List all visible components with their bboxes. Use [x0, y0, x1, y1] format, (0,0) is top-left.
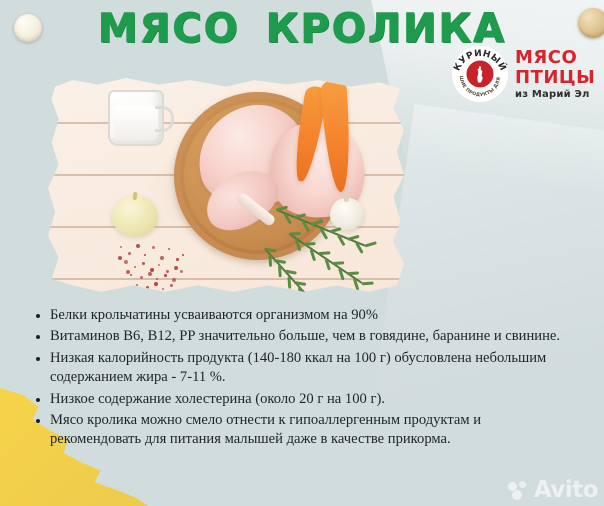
- rosemary-leaf: [362, 281, 374, 285]
- benefit-item: Мясо кролика можно смело отнести к гипоа…: [34, 411, 570, 450]
- benefit-item: Низкое содержание холестерина (около 20 …: [34, 390, 570, 409]
- rosemary-leaf: [304, 292, 316, 297]
- poster-canvas: МЯСО КРОЛИКА КУРИНЫЙ ЛУЧШИЕ ПРОДУКТЫ ДЛЯ…: [0, 0, 604, 506]
- peppercorn: [160, 256, 164, 260]
- peppercorn: [156, 278, 158, 280]
- logo-wordmark: МЯСО ПТИЦЫ из Марий Эл: [515, 49, 595, 100]
- rosemary-leaf: [318, 252, 330, 256]
- logo-badge-icon: КУРИНЫЙ ЛУЧШИЕ ПРОДУКТЫ ДЛЯ ВАС: [452, 46, 508, 102]
- logo-line-poultry: ПТИЦЫ: [515, 69, 595, 87]
- peppercorn: [136, 284, 138, 286]
- svg-text:ЛУЧШИЕ ПРОДУКТЫ ДЛЯ ВАС: ЛУЧШИЕ ПРОДУКТЫ ДЛЯ ВАС: [452, 46, 502, 98]
- rosemary-leaf: [268, 254, 272, 266]
- milk-jug-illustration: [108, 90, 164, 146]
- milk-fill: [114, 106, 158, 140]
- peppercorn: [158, 264, 160, 266]
- peppercorn: [164, 274, 167, 277]
- benefit-item: Низкая калорийность продукта (140-180 кк…: [34, 349, 570, 388]
- logo-line-meat: МЯСО: [515, 49, 595, 67]
- peppercorn: [182, 254, 184, 256]
- peppercorn: [162, 288, 164, 290]
- peppercorn: [134, 266, 136, 268]
- logo-badge-bottom-text-arc: ЛУЧШИЕ ПРОДУКТЫ ДЛЯ ВАС: [452, 46, 508, 102]
- peppercorn: [154, 282, 158, 286]
- peppercorn: [176, 258, 179, 261]
- peppercorn: [124, 260, 128, 264]
- rosemary-leaf: [347, 234, 359, 240]
- page-title-word-1: МЯСО: [98, 6, 240, 52]
- rosemary-leaf: [298, 287, 302, 299]
- peppercorn: [180, 270, 183, 273]
- peppercorn: [136, 244, 140, 248]
- brand-logo: КУРИНЫЙ ЛУЧШИЕ ПРОДУКТЫ ДЛЯ ВАС МЯСО ПТИ…: [452, 46, 595, 102]
- peppercorn: [120, 246, 122, 248]
- peppercorn: [148, 272, 152, 276]
- rosemary-leaf: [289, 232, 301, 236]
- peppercorn: [142, 262, 145, 265]
- peppercorn: [166, 270, 169, 273]
- avito-watermark-text: Avito: [534, 479, 598, 502]
- peppercorn: [118, 256, 122, 260]
- peppercorn: [172, 278, 176, 282]
- hero-photo: [48, 78, 404, 294]
- avito-dots-icon: [508, 481, 532, 501]
- benefit-item: Витаминов B6, B12, PP значительно больше…: [34, 327, 570, 346]
- rosemary-leaf: [347, 271, 359, 275]
- peppercorn: [168, 248, 170, 250]
- rosemary-leaf: [333, 261, 345, 265]
- rosemary-leaf: [303, 242, 315, 246]
- logo-tagline-region: из Марий Эл: [515, 90, 595, 100]
- avito-watermark: Avito: [508, 479, 598, 502]
- peppercorn: [128, 252, 131, 255]
- peppercorn: [174, 266, 178, 270]
- peppercorn: [144, 254, 146, 256]
- benefits-list-items: Белки крольчатины усваиваются организмом…: [34, 306, 570, 450]
- benefits-list: Белки крольчатины усваиваются организмом…: [34, 306, 570, 452]
- rosemary-sprig: [261, 196, 391, 290]
- hero-photo-torn-paper: [48, 78, 404, 294]
- onion-illustration: [112, 196, 158, 236]
- rosemary-leaf: [365, 241, 377, 247]
- peppercorn: [130, 274, 132, 276]
- benefit-item: Белки крольчатины усваиваются организмом…: [34, 306, 570, 325]
- peppercorn: [146, 286, 149, 289]
- peppercorn: [140, 276, 143, 279]
- peppercorn: [152, 246, 155, 249]
- peppercorn: [170, 284, 173, 287]
- title-spacer: [240, 6, 266, 52]
